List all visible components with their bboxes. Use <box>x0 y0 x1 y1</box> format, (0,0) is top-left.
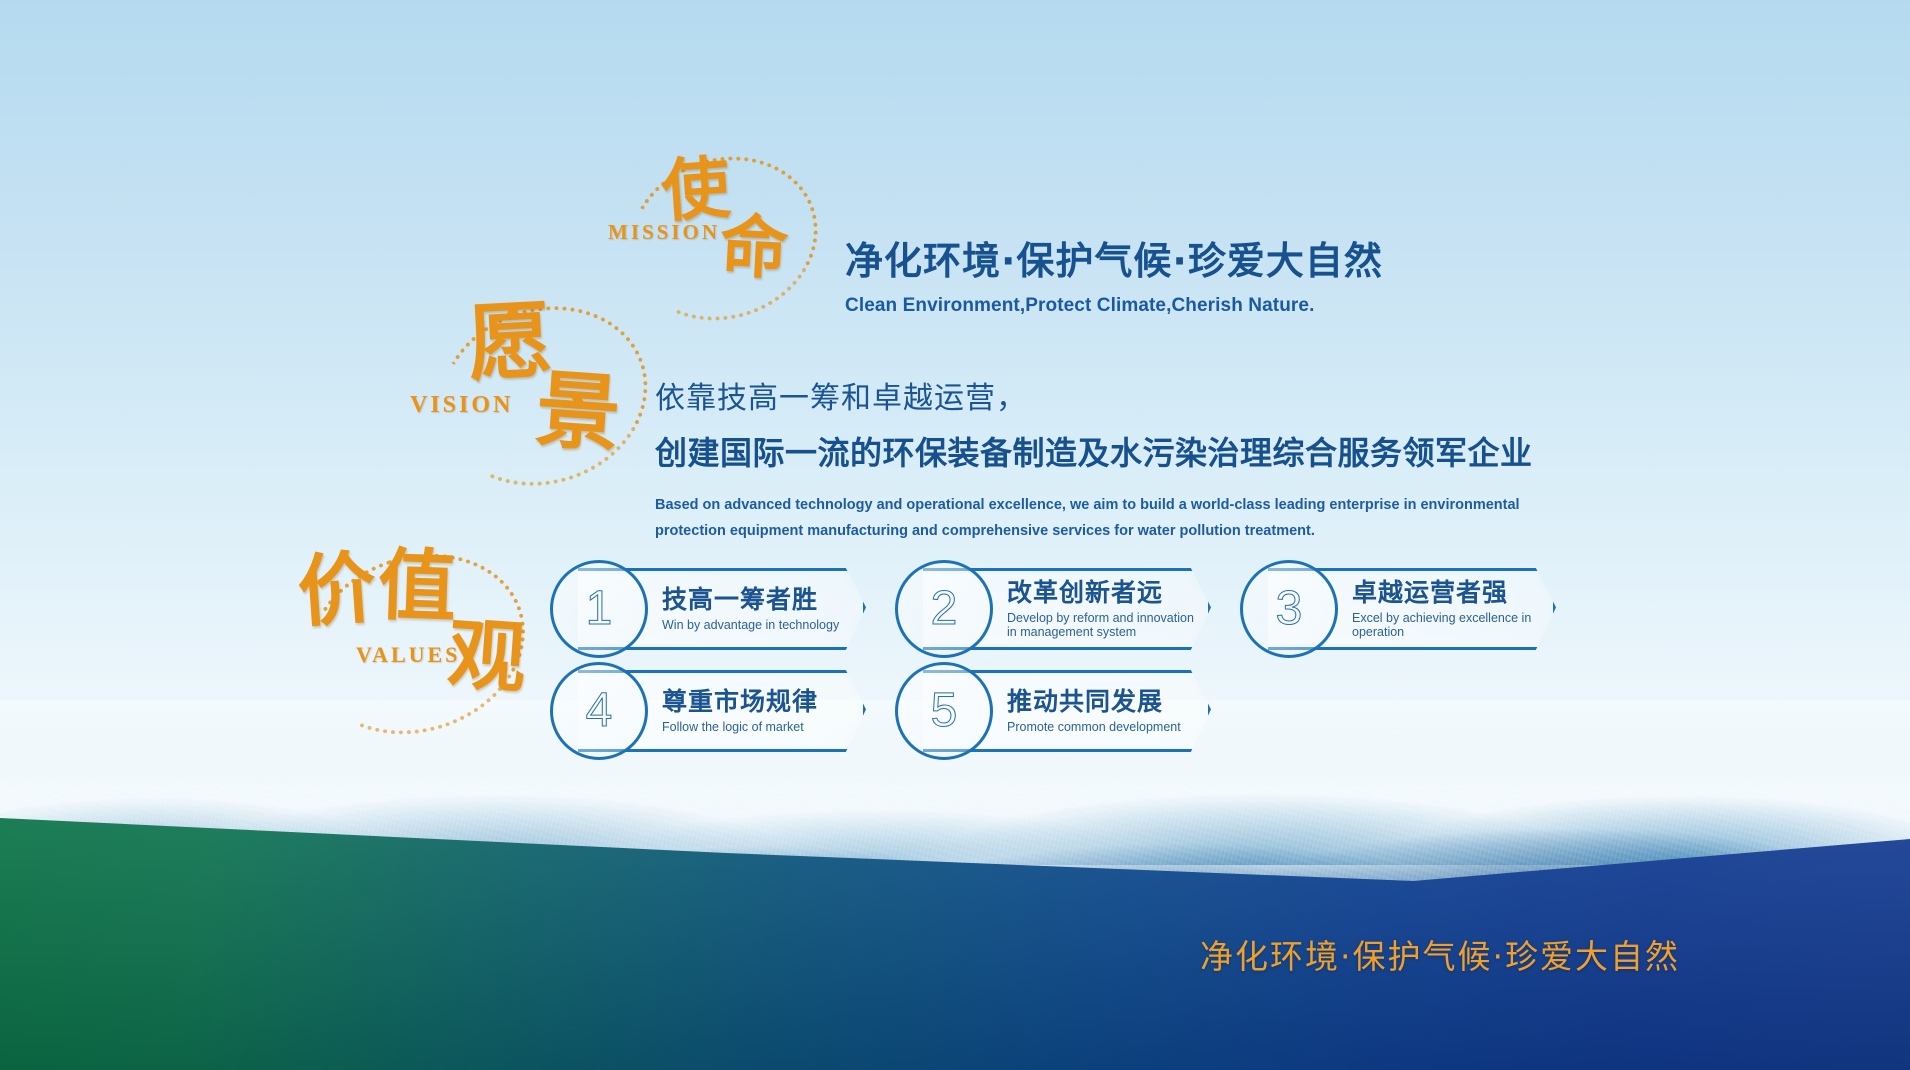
values-calligraphy-badge: 价 值 观 VALUES <box>288 548 533 738</box>
value-title-en: Win by advantage in technology <box>662 618 839 632</box>
value-number-circle: 1 <box>550 560 648 658</box>
value-title-en: Develop by reform and innovation in mana… <box>1007 611 1207 639</box>
value-title-en: Follow the logic of market <box>662 720 818 734</box>
value-card-2[interactable]: 2 改革创新者远 Develop by reform and innovatio… <box>923 568 1211 650</box>
value-number-circle: 5 <box>895 662 993 760</box>
mission-headline-en: Clean Environment,Protect Climate,Cheris… <box>845 295 1383 317</box>
footer-slogan: 净化环境·保护气候·珍爱大自然 <box>1200 930 1680 978</box>
card-text: 技高一筹者胜 Win by advantage in technology <box>662 586 839 632</box>
vision-char-2: 景 <box>533 367 623 457</box>
mission-headline-cn: 净化环境·保护气候·珍爱大自然 <box>845 230 1383 285</box>
vision-calligraphy-badge: 愿 景 VISION <box>420 300 655 490</box>
card-text: 卓越运营者强 Excel by achieving excellence in … <box>1352 579 1552 639</box>
values-row-top: 1 技高一筹者胜 Win by advantage in technology … <box>578 568 1613 650</box>
mission-badge-en: MISSION <box>608 220 720 245</box>
card-text: 尊重市场规律 Follow the logic of market <box>662 688 818 734</box>
mission-text-block: 净化环境·保护气候·珍爱大自然 Clean Environment,Protec… <box>845 230 1383 317</box>
value-number: 3 <box>1276 585 1303 633</box>
value-number: 1 <box>586 585 613 633</box>
mission-calligraphy-badge: 使 命 MISSION <box>610 150 825 325</box>
value-title-cn: 尊重市场规律 <box>662 688 818 717</box>
card-text: 推动共同发展 Promote common development <box>1007 688 1181 734</box>
value-card-4[interactable]: 4 尊重市场规律 Follow the logic of market <box>578 670 866 752</box>
value-card-5[interactable]: 5 推动共同发展 Promote common development <box>923 670 1211 752</box>
values-row-bottom: 4 尊重市场规律 Follow the logic of market 5 推动… <box>578 670 1268 752</box>
value-title-cn: 技高一筹者胜 <box>662 586 839 615</box>
vision-body-en: Based on advanced technology and operati… <box>655 492 1535 544</box>
vision-line-1: 依靠技高一筹和卓越运营， <box>655 373 1535 417</box>
vision-text-block: 依靠技高一筹和卓越运营， 创建国际一流的环保装备制造及水污染治理综合服务领军企业… <box>655 373 1535 544</box>
value-title-cn: 卓越运营者强 <box>1352 579 1552 608</box>
value-number: 2 <box>931 585 958 633</box>
foreground-band-sheen <box>0 720 1910 1070</box>
poster-canvas: 使 命 MISSION 净化环境·保护气候·珍爱大自然 Clean Enviro… <box>0 0 1910 1070</box>
value-title-en: Promote common development <box>1007 720 1181 734</box>
values-badge-en: VALUES <box>356 642 460 668</box>
value-card-1[interactable]: 1 技高一筹者胜 Win by advantage in technology <box>578 568 866 650</box>
value-card-3[interactable]: 3 卓越运营者强 Excel by achieving excellence i… <box>1268 568 1556 650</box>
value-number: 5 <box>931 687 958 735</box>
value-title-cn: 改革创新者远 <box>1007 579 1207 608</box>
value-number: 4 <box>586 687 613 735</box>
value-number-circle: 3 <box>1240 560 1338 658</box>
value-number-circle: 2 <box>895 560 993 658</box>
vision-line-2: 创建国际一流的环保装备制造及水污染治理综合服务领军企业 <box>655 428 1535 474</box>
values-char-1: 价 <box>295 549 378 632</box>
mission-char-2: 命 <box>718 212 789 283</box>
value-title-cn: 推动共同发展 <box>1007 688 1181 717</box>
value-number-circle: 4 <box>550 662 648 760</box>
card-text: 改革创新者远 Develop by reform and innovation … <box>1007 579 1207 639</box>
values-char-2: 值 <box>377 547 458 628</box>
vision-badge-en: VISION <box>410 392 513 419</box>
value-title-en: Excel by achieving excellence in operati… <box>1352 611 1552 639</box>
